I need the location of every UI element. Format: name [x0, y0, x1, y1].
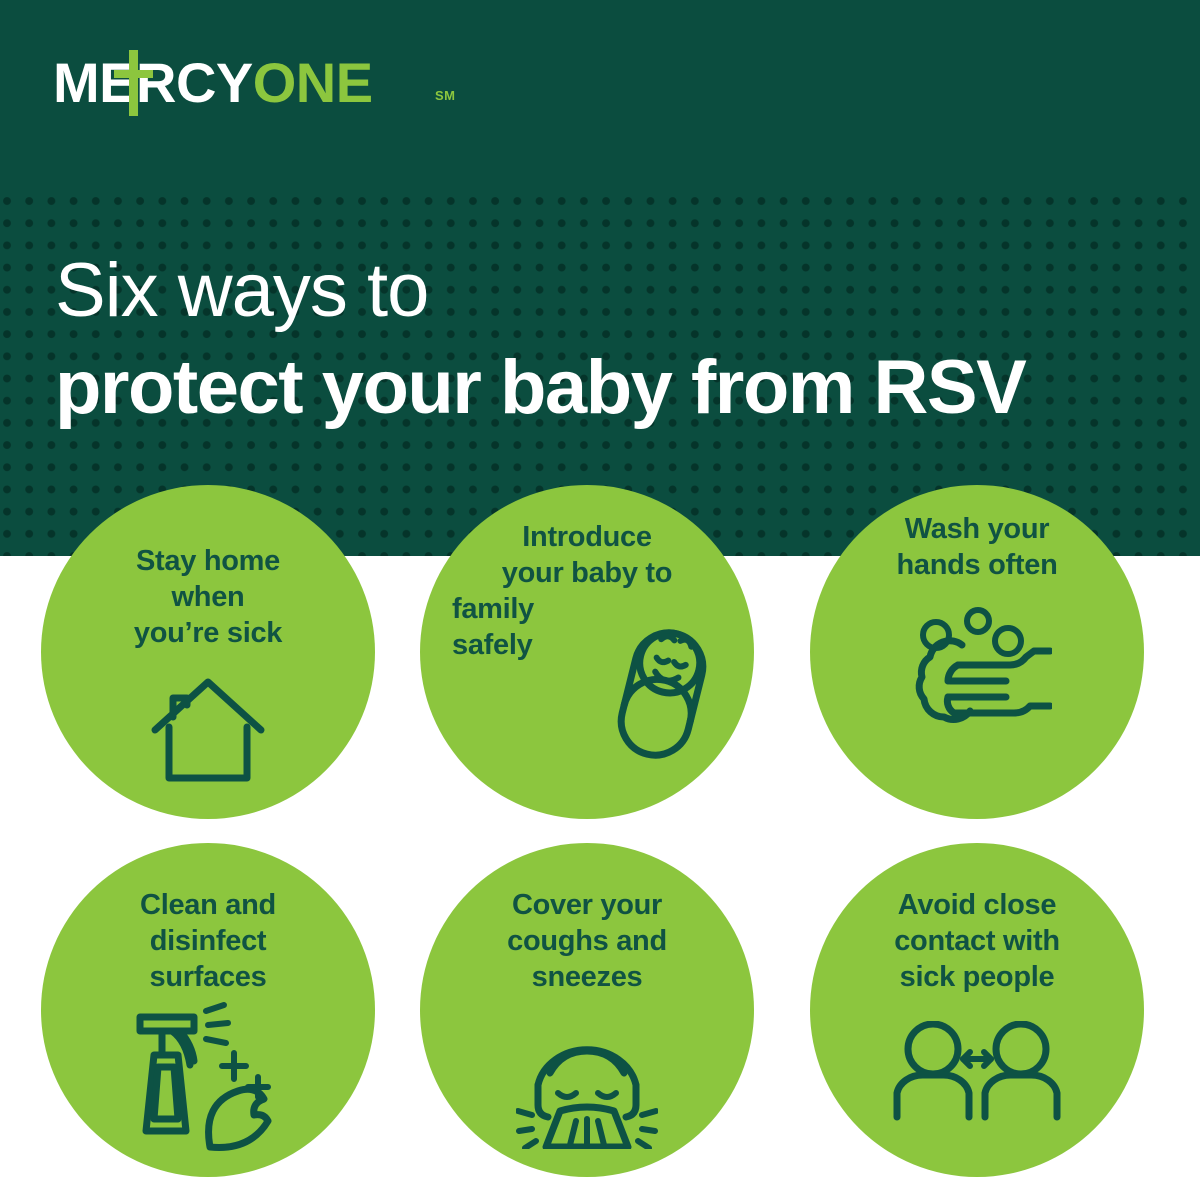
tip-label-line: contact with	[828, 923, 1126, 959]
swaddled-baby-icon	[598, 610, 726, 778]
tip-label-line: sick people	[828, 959, 1126, 995]
tip-label-6: Avoid close contact with sick people	[810, 887, 1144, 995]
infographic-poster: MERCYONE SM Six ways to protect your bab…	[0, 0, 1200, 1200]
tip-label-4: Clean and disinfect surfaces	[41, 887, 375, 995]
tip-label-line: you’re sick	[59, 615, 357, 651]
tip-card-introduce-baby: Introduce your baby to family safely	[420, 485, 754, 819]
tip-label-line: sneezes	[438, 959, 736, 995]
tip-label-1: Stay home when you’re sick	[41, 543, 375, 651]
tip-label-line: Avoid close	[828, 887, 1126, 923]
social-distance-people-icon	[889, 1021, 1065, 1121]
tip-label-line: Clean and	[59, 887, 357, 923]
tip-icon-wrap-4	[41, 1001, 375, 1151]
tips-grid: Stay home when you’re sick Introduce you…	[0, 0, 1200, 1200]
tip-card-cover-coughs: Cover your coughs and sneezes	[420, 843, 754, 1177]
tip-card-wash-hands: Wash your hands often	[810, 485, 1144, 819]
tip-label-line: Stay home	[59, 543, 357, 579]
cough-cover-face-icon	[516, 1011, 658, 1149]
tip-label-line: Wash your	[828, 511, 1126, 547]
tip-label-line: coughs and	[438, 923, 736, 959]
tip-icon-wrap-5	[420, 1011, 754, 1149]
tip-label-5: Cover your coughs and sneezes	[420, 887, 754, 995]
tip-icon-wrap-3	[810, 605, 1144, 753]
tip-label-line: disinfect	[59, 923, 357, 959]
tip-card-avoid-contact: Avoid close contact with sick people	[810, 843, 1144, 1177]
tip-icon-wrap-2	[592, 610, 732, 778]
tip-label-line: hands often	[828, 547, 1126, 583]
house-icon	[149, 670, 267, 788]
spray-bottle-cloth-icon	[128, 1001, 288, 1151]
tip-card-clean-disinfect: Clean and disinfect surfaces	[41, 843, 375, 1177]
tip-icon-wrap-1	[41, 670, 375, 788]
tip-label-line: surfaces	[59, 959, 357, 995]
tip-label-line: your baby to	[438, 555, 736, 591]
tip-label-3: Wash your hands often	[810, 511, 1144, 583]
tip-card-stay-home: Stay home when you’re sick	[41, 485, 375, 819]
tip-label-line: Introduce	[438, 519, 736, 555]
tip-icon-wrap-6	[810, 1021, 1144, 1121]
tip-label-line: when	[59, 579, 357, 615]
washing-hands-icon	[902, 605, 1052, 753]
tip-label-line: Cover your	[438, 887, 736, 923]
